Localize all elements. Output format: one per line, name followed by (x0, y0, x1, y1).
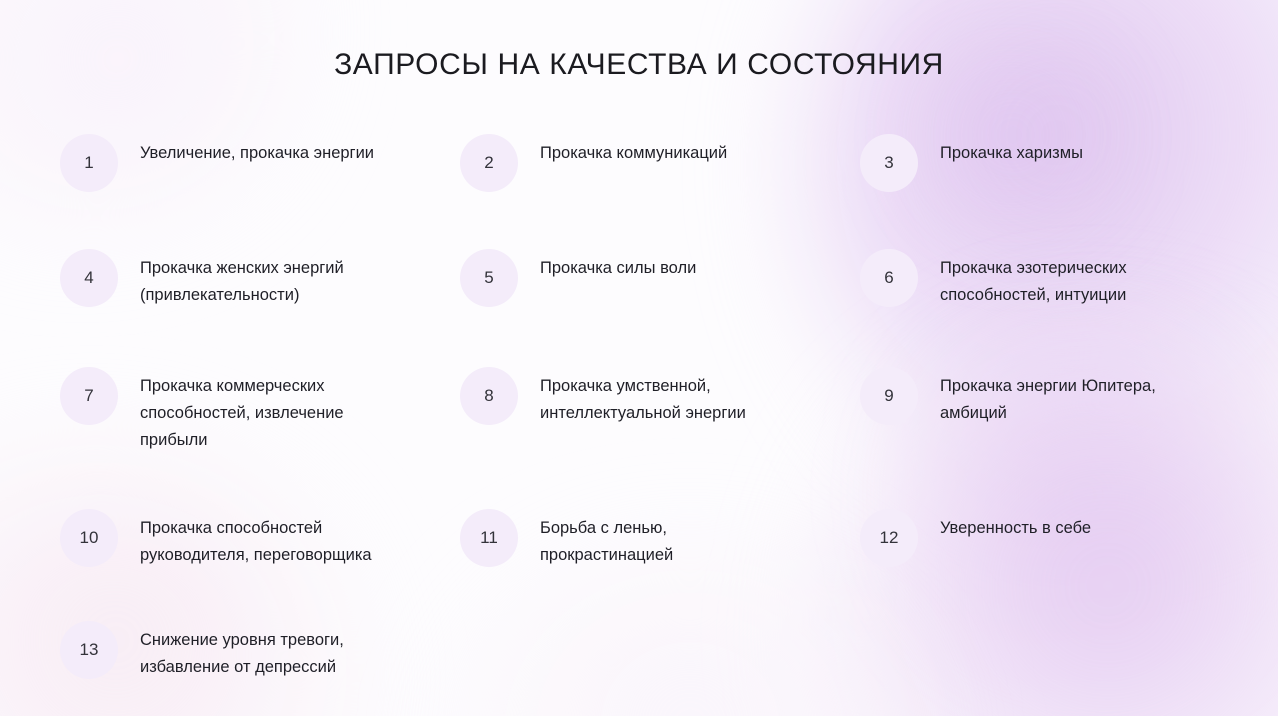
list-item[interactable]: 12 Уверенность в себе (860, 487, 1250, 599)
item-label: Прокачка харизмы (940, 140, 1083, 167)
item-number-badge: 8 (460, 367, 518, 425)
item-number-badge: 3 (860, 134, 918, 192)
list-item[interactable]: 2 Прокачка коммуникаций (460, 112, 860, 227)
grid-spacer (860, 599, 1250, 714)
list-item[interactable]: 3 Прокачка харизмы (860, 112, 1250, 227)
list-item[interactable]: 11 Борьба с ленью, прокрастинацией (460, 487, 860, 599)
item-label: Увеличение, прокачка энергии (140, 140, 374, 167)
item-label: Прокачка силы воли (540, 255, 696, 282)
list-item[interactable]: 13 Снижение уровня тревоги, избавление о… (60, 599, 460, 714)
item-label: Прокачка коммерческих способностей, извл… (140, 373, 344, 454)
list-item[interactable]: 6 Прокачка эзотерических способностей, и… (860, 227, 1250, 345)
item-number-badge: 4 (60, 249, 118, 307)
item-number-badge: 11 (460, 509, 518, 567)
item-label: Прокачка умственной, интеллектуальной эн… (540, 373, 746, 427)
list-item[interactable]: 1 Увеличение, прокачка энергии (60, 112, 460, 227)
item-label: Борьба с ленью, прокрастинацией (540, 515, 673, 569)
list-item[interactable]: 8 Прокачка умственной, интеллектуальной … (460, 345, 860, 487)
item-label: Прокачка эзотерических способностей, инт… (940, 255, 1127, 309)
item-label: Уверенность в себе (940, 515, 1091, 542)
item-label: Прокачка коммуникаций (540, 140, 727, 167)
item-number-badge: 13 (60, 621, 118, 679)
item-number-badge: 2 (460, 134, 518, 192)
list-item[interactable]: 10 Прокачка способностей руководителя, п… (60, 487, 460, 599)
list-item[interactable]: 7 Прокачка коммерческих способностей, из… (60, 345, 460, 487)
item-number-badge: 10 (60, 509, 118, 567)
item-label: Прокачка энергии Юпитера, амбиций (940, 373, 1156, 427)
slide-root: ЗАПРОСЫ НА КАЧЕСТВА И СОСТОЯНИЯ 1 Увелич… (0, 0, 1278, 716)
item-number-badge: 9 (860, 367, 918, 425)
item-number-badge: 12 (860, 509, 918, 567)
list-item[interactable]: 5 Прокачка силы воли (460, 227, 860, 345)
item-number-badge: 7 (60, 367, 118, 425)
item-label: Снижение уровня тревоги, избавление от д… (140, 627, 344, 681)
item-number-badge: 5 (460, 249, 518, 307)
list-item[interactable]: 4 Прокачка женских энергий (привлекатель… (60, 227, 460, 345)
grid-spacer (460, 599, 860, 714)
item-label: Прокачка способностей руководителя, пере… (140, 515, 372, 569)
list-item[interactable]: 9 Прокачка энергии Юпитера, амбиций (860, 345, 1250, 487)
item-label: Прокачка женских энергий (привлекательно… (140, 255, 344, 309)
item-number-badge: 1 (60, 134, 118, 192)
page-title: ЗАПРОСЫ НА КАЧЕСТВА И СОСТОЯНИЯ (0, 46, 1278, 84)
item-number-badge: 6 (860, 249, 918, 307)
request-list: 1 Увеличение, прокачка энергии 2 Прокачк… (60, 112, 1250, 714)
